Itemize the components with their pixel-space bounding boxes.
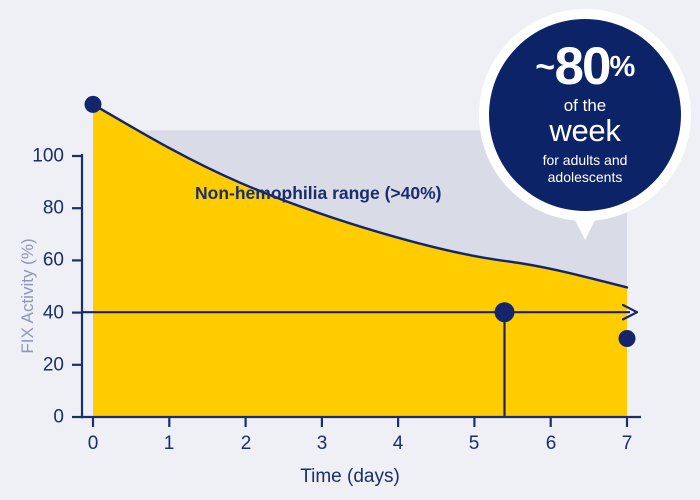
callout-disc <box>489 19 681 211</box>
callout-shape <box>478 8 692 256</box>
x-tick-label-2: 2 <box>241 434 252 453</box>
x-tick-label-0: 0 <box>88 434 99 453</box>
x-tick-label-7: 7 <box>622 434 633 453</box>
y-axis-title: FIX Activity (%) <box>18 206 38 386</box>
y-tick-label-100: 100 <box>18 147 64 166</box>
y-tick-label-0: 0 <box>18 408 64 427</box>
non-hemophilia-range-label: Non-hemophilia range (>40%) <box>195 183 442 204</box>
x-axis-title: Time (days) <box>0 466 700 488</box>
data-point-marker <box>619 330 636 347</box>
x-tick-label-4: 4 <box>393 434 404 453</box>
data-point-marker <box>495 302 515 322</box>
y-axis-ticks <box>72 156 82 417</box>
x-tick-label-3: 3 <box>317 434 328 453</box>
x-tick-label-5: 5 <box>469 434 480 453</box>
fix-activity-chart: 100 80 60 40 20 0 0 1 2 3 4 5 6 7 FIX Ac… <box>0 0 700 500</box>
x-tick-label-6: 6 <box>546 434 557 453</box>
x-tick-label-1: 1 <box>164 434 175 453</box>
data-point-marker <box>85 96 102 113</box>
x-axis-ticks <box>93 417 627 427</box>
callout-badge: ~80% of the week for adults and adolesce… <box>478 8 692 256</box>
